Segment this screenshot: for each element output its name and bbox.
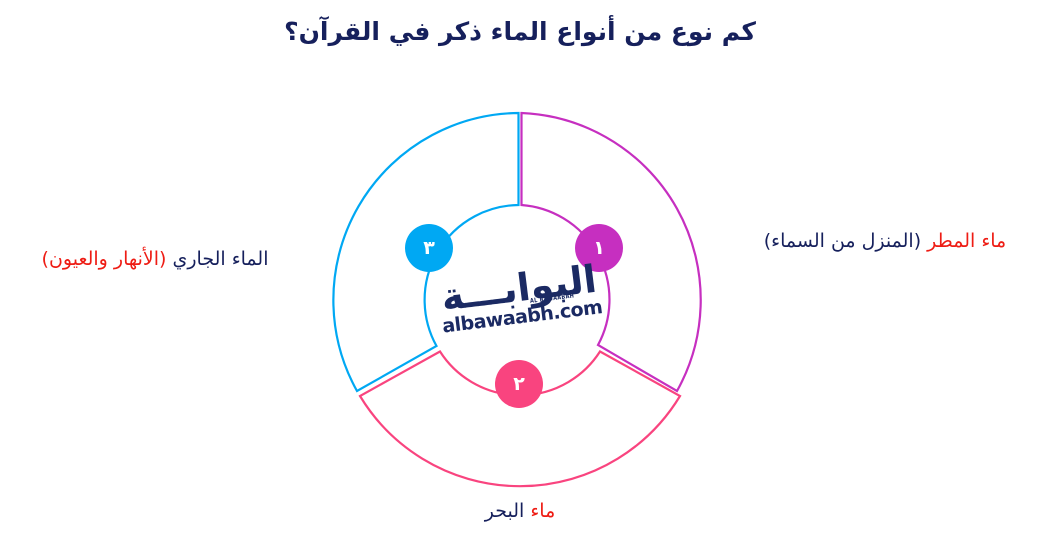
segment-label-3-primary: الماء الجاري bbox=[172, 248, 268, 270]
segment-label-1: ماء المطر (المنزل من السماء) bbox=[750, 228, 1020, 256]
infographic-canvas: كم نوع من أنواع الماء ذكر في القرآن؟ ١ ٢… bbox=[0, 0, 1040, 546]
segment-label-3-secondary: (الأنهار والعيون) bbox=[42, 248, 167, 270]
segment-badge-2[interactable]: ٢ bbox=[495, 360, 543, 408]
page-title: كم نوع من أنواع الماء ذكر في القرآن؟ bbox=[0, 16, 1040, 47]
segment-label-1-secondary: (المنزل من السماء) bbox=[764, 230, 921, 252]
segment-label-3: الماء الجاري (الأنهار والعيون) bbox=[20, 246, 290, 274]
segment-label-2-primary: ماء bbox=[530, 500, 555, 522]
segment-label-2: ماء البحر bbox=[370, 498, 670, 526]
segment-label-2-secondary: البحر bbox=[485, 500, 525, 522]
segment-label-1-primary: ماء المطر bbox=[927, 230, 1006, 252]
